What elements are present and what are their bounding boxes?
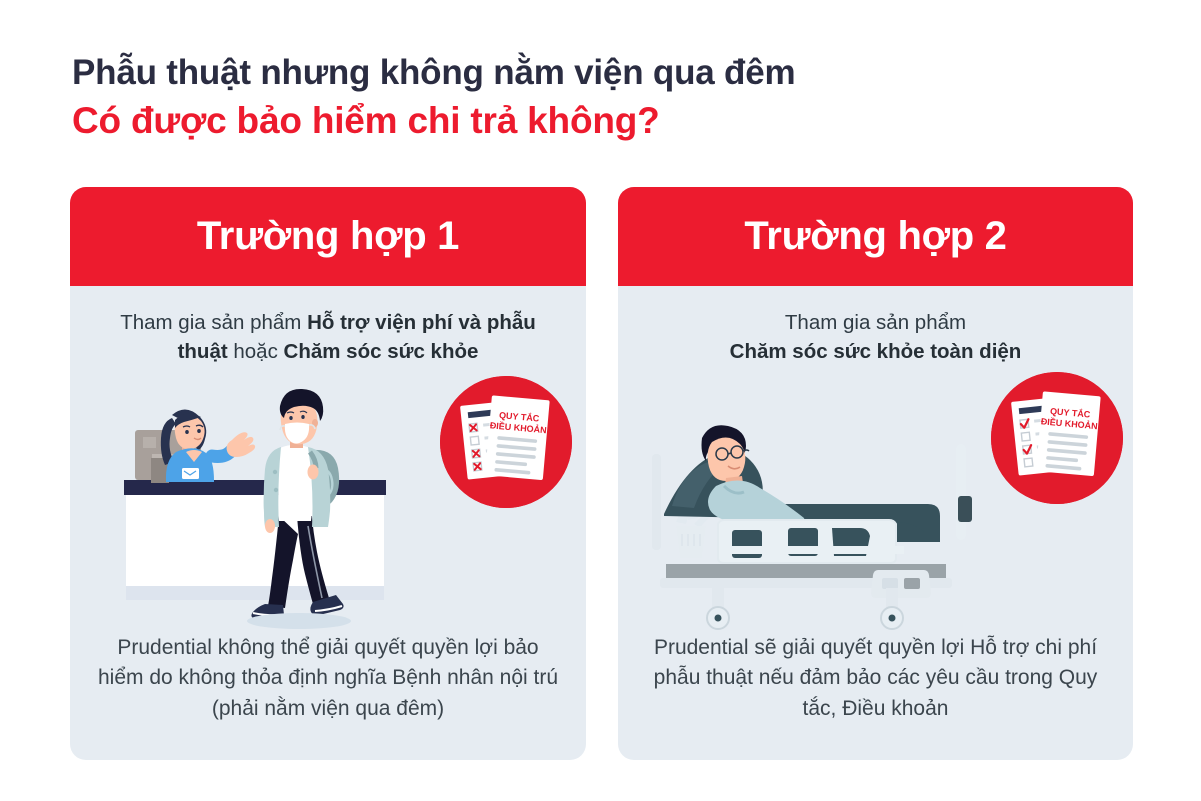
infographic-page: Phẫu thuật nhưng không nằm viện qua đêm …: [0, 0, 1201, 801]
card-1-header: Trường hợp 1: [70, 187, 586, 286]
card-2-header: Trường hợp 2: [618, 187, 1133, 286]
card-1-subtitle-part-0: Tham gia sản phẩm: [120, 311, 307, 334]
page-title: Phẫu thuật nhưng không nằm viện qua đêm …: [72, 52, 1132, 144]
card-2-header-label: Trường hợp 2: [744, 214, 1006, 259]
card-2-footer-text: Prudential sẽ giải quyết quyền lợi Hỗ tr…: [618, 633, 1133, 724]
card-1-header-label: Trường hợp 1: [197, 214, 459, 259]
card-1-terms-badge: QUY TẮC ĐIỀU KHOẢN: [440, 376, 572, 508]
case-card-2: Trường hợp 2 Tham gia sản phẩmChăm sóc s…: [618, 187, 1133, 760]
card-2-subtitle: Tham gia sản phẩmChăm sóc sức khỏe toàn …: [618, 308, 1133, 366]
hospital-reception-illustration: [94, 376, 424, 638]
case-card-1: Trường hợp 1 Tham gia sản phẩm Hỗ trợ vi…: [70, 187, 586, 760]
card-2-terms-badge: QUY TẮC ĐIỀU KHOẢN: [991, 372, 1123, 504]
card-1-footer-text: Prudential không thể giải quyết quyền lợ…: [70, 633, 586, 724]
card-2-subtitle-part-0: Tham gia sản phẩm: [785, 311, 966, 334]
title-line-1: Phẫu thuật nhưng không nằm viện qua đêm: [72, 52, 1132, 93]
title-line-2: Có được bảo hiểm chi trả không?: [72, 99, 1132, 143]
card-1-illustration-area: QUY TẮC ĐIỀU KHOẢN: [70, 370, 586, 638]
card-2-illustration-area: QUY TẮC ĐIỀU KHOẢN: [618, 370, 1133, 638]
terms-document-icon: QUY TẮC ĐIỀU KHOẢN: [991, 372, 1123, 504]
terms-document-icon: QUY TẮC ĐIỀU KHOẢN: [440, 376, 572, 508]
card-1-subtitle: Tham gia sản phẩm Hỗ trợ viện phí và phẫ…: [70, 308, 586, 366]
card-1-subtitle-part-3: Chăm sóc sức khỏe: [284, 340, 479, 363]
card-1-subtitle-part-2: hoặc: [233, 340, 283, 363]
card-2-subtitle-part-1: Chăm sóc sức khỏe toàn diện: [730, 340, 1022, 363]
hospital-bed-illustration: [636, 394, 986, 634]
